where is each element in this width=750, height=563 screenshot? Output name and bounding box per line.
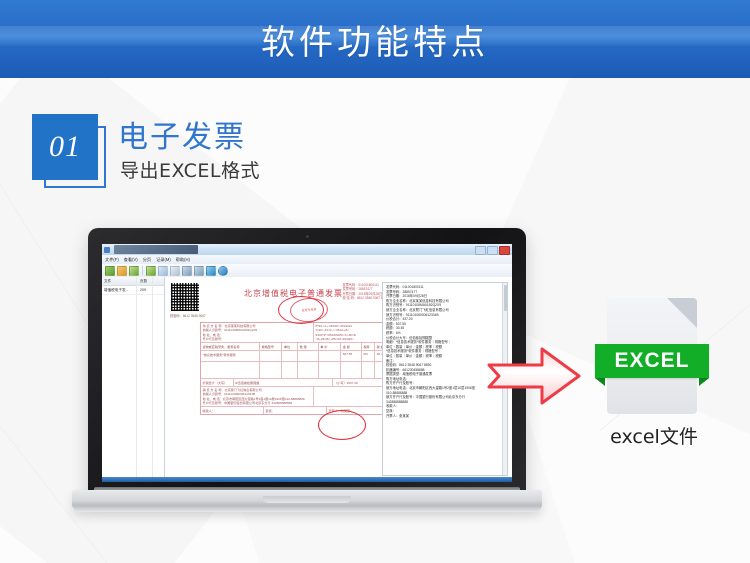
col-amount: 金 额 — [341, 343, 362, 350]
right-arrow-icon — [487, 345, 582, 407]
reviewer: 复核： — [264, 407, 327, 414]
total-label: 价税合计（大写） — [201, 379, 234, 386]
file-name: 增值税电子发... — [102, 288, 138, 293]
buyer-cell: 购 买 方 名 称：北京某某科技有限公司 纳税人识别号：91110108MA01… — [201, 323, 314, 342]
open-folder-icon[interactable] — [117, 266, 127, 276]
save-icon[interactable] — [129, 266, 139, 276]
cell-qty-2 — [298, 362, 319, 378]
menu-page[interactable]: 分页 — [143, 257, 151, 263]
cell-goods-name: *信息技术服务*软件服务 — [201, 351, 260, 361]
zoom-out-icon[interactable] — [170, 266, 180, 276]
sidebar-gridline-1 — [136, 277, 137, 482]
seller-cell: 销 售 方 名 称：北京厦门飞虹信息有限公司 纳税人识别号：9111010800… — [201, 387, 314, 406]
file-list-header: 文件 页数 — [102, 277, 164, 286]
table-row: *信息技术服务*软件服务 507.55 6% 30.45 — [201, 351, 389, 362]
feature-number-text: 01 — [49, 130, 81, 164]
buyer-bank: 开户行及账号： — [203, 337, 312, 341]
annotation-circle-bottom — [318, 410, 366, 440]
close-button[interactable] — [499, 246, 510, 255]
qr-code — [170, 282, 200, 312]
page-header-banner: 软件功能特点 — [0, 0, 750, 78]
sidebar-gridline-2 — [152, 277, 153, 482]
col-qty: 数 量 — [298, 343, 319, 350]
laptop-base-notch — [263, 496, 351, 503]
cell-price-2 — [319, 362, 341, 378]
menu-file[interactable]: 文件(F) — [105, 257, 119, 263]
feature-heading: 01 电子发票 导出EXCEL格式 — [26, 108, 356, 198]
excel-file-label: excel文件 — [595, 422, 713, 449]
zoom-in-icon[interactable] — [158, 266, 168, 276]
first-record-icon[interactable] — [182, 266, 192, 276]
feature-title: 电子发票 — [118, 112, 246, 156]
excel-file-icon: EXCEL excel文件 — [595, 298, 713, 448]
remark-cell — [314, 387, 389, 406]
menu-view[interactable]: 查看(V) — [124, 257, 138, 263]
feature-subtitle: 导出EXCEL格式 — [120, 156, 260, 183]
col-rate: 税率 — [362, 343, 375, 350]
col-spec: 规格型号 — [260, 343, 282, 350]
cell-qty — [298, 351, 319, 361]
table-row — [201, 362, 389, 379]
laptop-lid: 文件(F) 查看(V) 分页 记录(M) 帮助(H) — [88, 228, 526, 496]
window-controls[interactable] — [475, 246, 510, 255]
ribbon-right-tail — [699, 378, 709, 386]
menu-help[interactable]: 帮助(H) — [176, 257, 190, 263]
app-statusbar — [102, 477, 512, 482]
table-header-row: 货物或应税劳务、服务名称 规格型号 单位 数 量 单 价 金 额 税率 税 额 — [201, 343, 389, 351]
app-icon — [104, 247, 110, 253]
open-file-icon[interactable] — [105, 266, 115, 276]
column-header-name: 文件 — [102, 279, 138, 284]
total-row: 价税合计（大写） ⊗伍佰叁拾捌圆整 （小写）¥537.20 — [201, 379, 389, 387]
footer-row: 收款人： 复核： 开票人：张某某 — [201, 407, 389, 414]
total-chinese: ⊗伍佰叁拾捌圆整 — [234, 379, 333, 386]
col-price: 单 价 — [319, 343, 341, 350]
file-pages: 209 — [138, 288, 156, 292]
text-line: 开票人：张某某 — [386, 414, 504, 419]
col-unit: 单位 — [282, 343, 298, 350]
webcam-icon — [306, 235, 309, 238]
cell-price — [319, 351, 341, 361]
file-list-sidebar[interactable]: 文件 页数 增值税电子发... 209 — [102, 277, 165, 482]
scrollbar-thumb[interactable] — [504, 285, 507, 311]
page-title: 软件功能特点 — [0, 0, 750, 78]
col-goods-name: 货物或应税劳务、服务名称 — [201, 343, 260, 350]
seller-row: 销 售 方 名 称：北京厦门飞虹信息有限公司 纳税人识别号：9111010800… — [201, 387, 389, 407]
toolbar-separator — [142, 266, 143, 275]
excel-ribbon: EXCEL — [595, 344, 709, 378]
print-icon[interactable] — [206, 266, 216, 276]
app-title-highlight — [114, 245, 198, 254]
total-digits: （小写）¥537.20 — [333, 379, 389, 386]
app-toolbar[interactable] — [102, 264, 512, 278]
invoice-document: 校验码：8612 3548 9067 北京增值税电子普通发票 发票代码：0110… — [170, 282, 388, 318]
menu-record[interactable]: 记录(M) — [156, 257, 171, 263]
maximize-button[interactable] — [487, 246, 498, 255]
cell-rate: 6% — [362, 351, 375, 361]
invoice-app-window: 文件(F) 查看(V) 分页 记录(M) 帮助(H) — [102, 244, 512, 482]
column-header-pages: 页数 — [138, 279, 156, 284]
list-item[interactable]: 增值税电子发... 209 — [102, 286, 164, 295]
cell-spec — [260, 351, 282, 361]
excel-badge-text: EXCEL — [614, 349, 689, 373]
seller-bank: 开户行及账号：中国银行股份有限公司北京东分行 342888888888 — [203, 401, 312, 405]
about-icon[interactable] — [218, 266, 228, 276]
laptop-mockup: 文件(F) 查看(V) 分页 记录(M) 帮助(H) — [72, 228, 542, 528]
feature-number-badge: 01 — [32, 114, 98, 180]
cell-amount-2 — [341, 362, 362, 378]
annotation-circle-top — [278, 296, 324, 324]
minimize-button[interactable] — [475, 246, 486, 255]
cell-unit — [282, 351, 298, 361]
last-record-icon[interactable] — [194, 266, 204, 276]
feature-page: 软件功能特点 01 电子发票 导出EXCEL格式 — [0, 0, 750, 563]
laptop-screen: 文件(F) 查看(V) 分页 记录(M) 帮助(H) — [102, 244, 512, 482]
cipher-cell: 8*9/1<1+-28190<+8/22/&4 7/40<-33<0-<<//5… — [314, 323, 389, 342]
invoice-table: 购 买 方 名 称：北京某某科技有限公司 纳税人识别号：91110108MA01… — [200, 322, 390, 415]
cell-unit-2 — [282, 362, 298, 378]
table-row: 购 买 方 名 称：北京某某科技有限公司 纳税人识别号：91110108MA01… — [201, 323, 389, 343]
export-excel-icon[interactable] — [146, 266, 156, 276]
cell-rate-2 — [362, 362, 375, 378]
cell-spec-2 — [260, 362, 282, 378]
payee: 收款人： — [201, 407, 264, 414]
cell-amount: 507.55 — [341, 351, 362, 361]
ribbon-left-tail — [595, 378, 605, 386]
cell-goods-name-2 — [201, 362, 260, 378]
invoice-preview-area[interactable]: 校验码：8612 3548 9067 北京增值税电子普通发票 发票代码：0110… — [165, 277, 512, 482]
cipher-line-4: <8+23/46<+85<29<2640/2< — [315, 337, 387, 341]
